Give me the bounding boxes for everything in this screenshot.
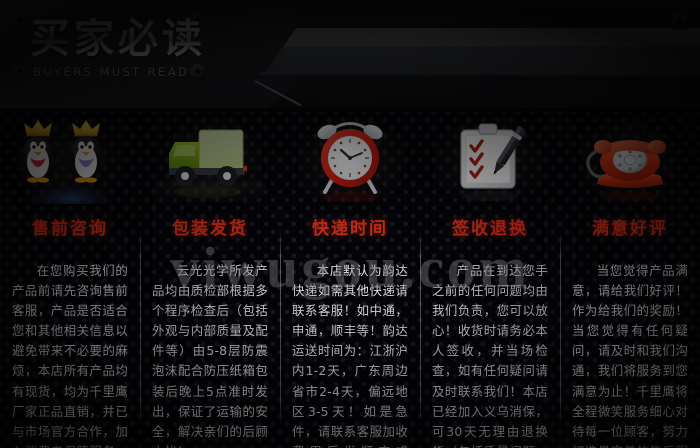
icon-container [6,112,134,206]
column-body-text: 云光光学所发产品均由质检部根据多个程序检查后（包括外观与内部质量及配件等）由5-… [146,261,274,448]
info-columns: 售前咨询 在您购买我们的产品前请先咨询售前客服，产品是否适合您和其他相关信息以避… [0,112,700,448]
icon-container [426,112,554,206]
column-title: 满意好评 [592,214,668,239]
column-title: 包装发货 [172,214,248,239]
header-metal-band-highlight [230,28,700,74]
green-truck-icon [155,112,265,204]
red-alarm-clock-icon [295,112,405,204]
page-title: 买家必读 [30,18,280,60]
column-satisfaction-review: 满意好评 当您觉得产品满意，请给我们好评！作为给我们的奖励！当您觉得有任何疑问，… [560,112,700,448]
column-title: 售前咨询 [32,214,108,239]
column-body-text: 本店默认为韵达快递如需其他快递请联系客服！如中通，申通，顺丰等！韵达运送时间为：… [286,261,414,448]
screw-icon [12,64,27,79]
column-body-text: 在您购买我们的产品前请先咨询售前客服，产品是否适合您和其他相关信息以避免带来不必… [6,261,134,448]
buyers-must-read-banner: 买家必读 BUYERS MUST READ [0,0,700,448]
column-delivery-time: 快递时间 本店默认为韵达快递如需其他快递请联系客服！如中通，申通，顺丰等！韵达运… [280,112,420,448]
header-metal-band-shadow [225,72,700,78]
icon-container [286,112,414,206]
column-sign-return: 签收退换 产品在到达您手之前的任何问题均由我们负责，您可以放心！收货时请务必本人… [420,112,560,448]
icon-container [566,112,694,206]
column-title: 签收退换 [452,214,528,239]
screw-icon [12,12,27,27]
qq-penguin-pair-icon [15,112,125,204]
column-title: 快递时间 [312,214,388,239]
page-subtitle: BUYERS MUST READ [33,65,280,79]
red-telephone-icon [575,112,685,204]
clipboard-checklist-pen-icon [435,112,545,204]
header-plate: 买家必读 BUYERS MUST READ [0,0,700,112]
column-pre-sales: 售前咨询 在您购买我们的产品前请先咨询售前客服，产品是否适合您和其他相关信息以避… [0,112,140,448]
column-body-text: 当您觉得产品满意，请给我们好评！作为给我们的奖励！当您觉得有任何疑问，请及时和我… [566,261,694,448]
icon-container [146,112,274,206]
screw-icon [672,14,687,29]
column-body-text: 产品在到达您手之前的任何问题均由我们负责，您可以放心！收货时请务必本人签收，并当… [426,261,554,448]
column-packaging: 包装发货 云光光学所发产品均由质检部根据多个程序检查后（包括外观与内部质量及配件… [140,112,280,448]
banner-title-group: 买家必读 BUYERS MUST READ [30,18,280,79]
